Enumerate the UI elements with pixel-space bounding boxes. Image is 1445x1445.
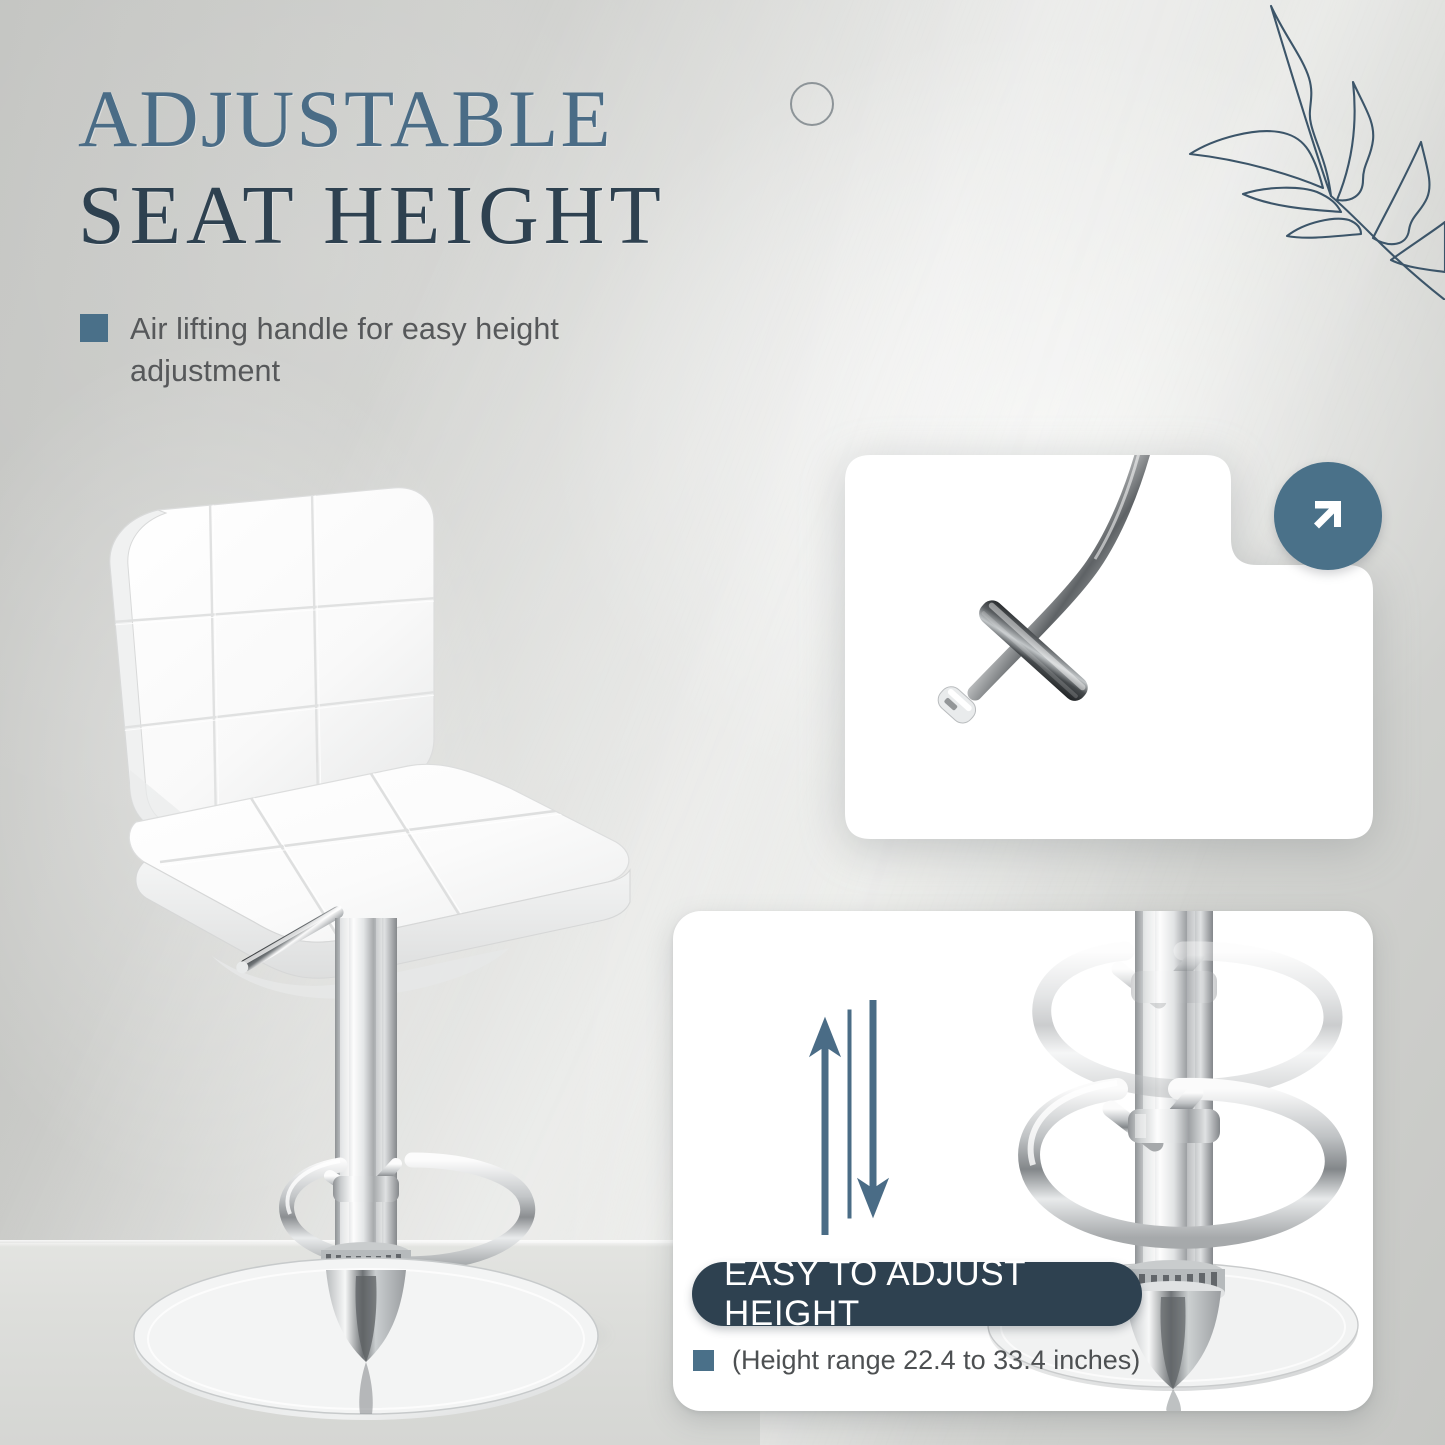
product-bar-stool-image xyxy=(40,470,680,1430)
stool-chrome-column xyxy=(335,918,397,1257)
height-range-text: (Height range 22.4 to 33.4 inches) xyxy=(732,1345,1140,1376)
headline-line-2: SEAT HEIGHT xyxy=(78,174,898,258)
feature-bullet: Air lifting handle for easy height adjus… xyxy=(80,308,680,392)
arrow-up-right-badge[interactable] xyxy=(1274,462,1382,570)
height-range-note: (Height range 22.4 to 33.4 inches) xyxy=(693,1345,1140,1376)
leaf-branch-decoration xyxy=(1145,0,1445,300)
square-marker-icon xyxy=(693,1350,714,1371)
card-label-easy-to-adjust-height: EASY TO ADJUST HEIGHT xyxy=(692,1262,1142,1326)
up-down-arrows-icon xyxy=(788,1000,918,1235)
leaf-branch-icon xyxy=(1145,0,1445,300)
headline-line-1: ADJUSTABLE xyxy=(78,78,898,160)
infographic-canvas: ADJUSTABLE SEAT HEIGHT Air lifting handl… xyxy=(0,0,1445,1445)
arrow-up-right-icon xyxy=(1300,488,1356,544)
stool-footrest-ring xyxy=(287,1160,528,1264)
card-easy-to-adjust-height: EASY TO ADJUST HEIGHT (Height range 22.4… xyxy=(673,911,1373,1411)
feature-bullet-text: Air lifting handle for easy height adjus… xyxy=(130,308,680,392)
card-photo-footrest-heights xyxy=(673,911,1373,1411)
square-marker-icon xyxy=(80,314,108,342)
stool-base-plate xyxy=(134,1242,598,1420)
headline-block: ADJUSTABLE SEAT HEIGHT xyxy=(78,78,898,258)
